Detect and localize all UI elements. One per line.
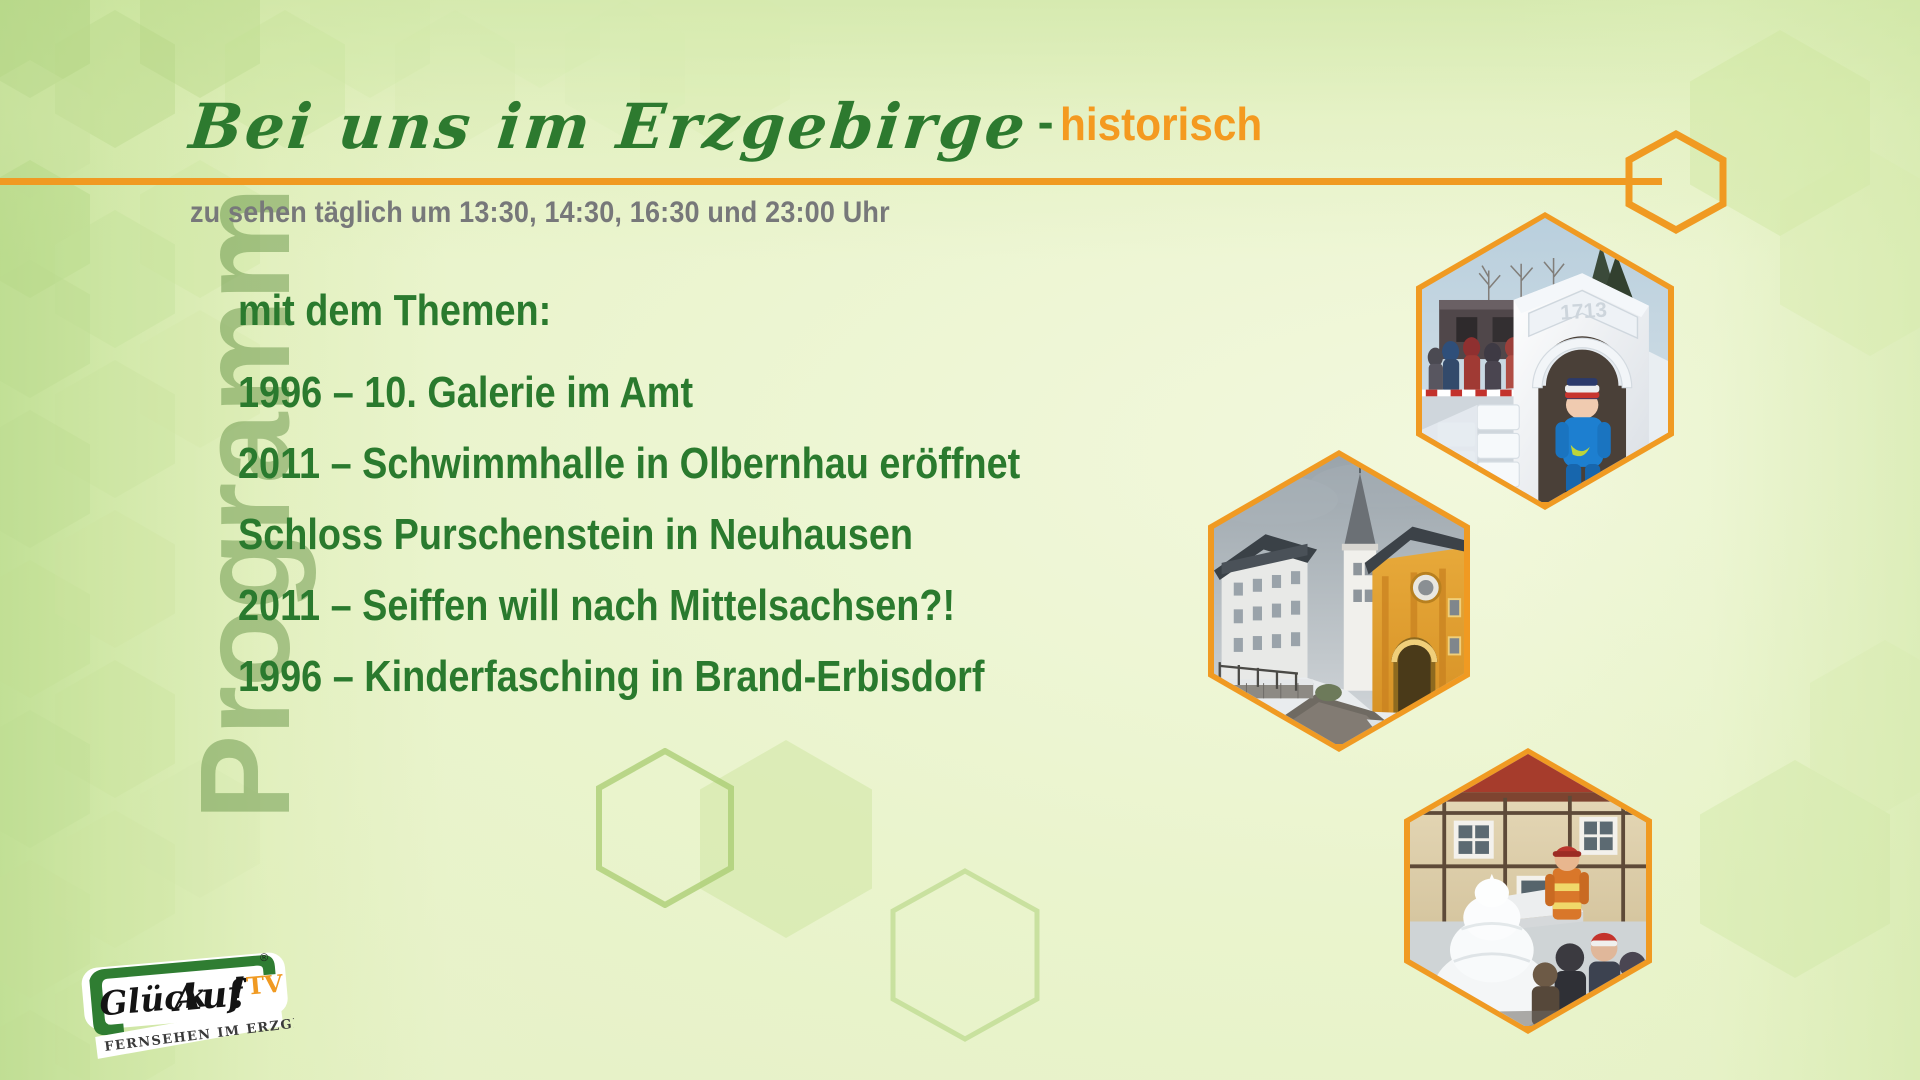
page-title-accent: historisch <box>1060 101 1262 147</box>
page-title: Bei uns im Erzgebirge-historisch <box>190 96 1279 158</box>
schedule-text: zu sehen täglich um 13:30, 14:30, 16:30 … <box>190 196 890 230</box>
topic-list-lead: mit dem Themen: <box>238 286 1081 336</box>
logo-registered-mark: ® <box>260 952 269 964</box>
channel-logo: Glück Auf ! TV ® FERNSEHEN IM ERZGEBIRGE <box>78 952 294 1060</box>
page-title-dash: - <box>1038 99 1054 147</box>
logo-tv: TV <box>245 968 284 1000</box>
topic-item: 1996 – 10. Galerie im Amt <box>238 368 1081 418</box>
topic-item: Schloss Purschenstein in Neuhausen <box>238 510 1081 560</box>
glueckauf-tv-logo: Glück Auf ! TV ® FERNSEHEN IM ERZGEBIRGE <box>78 952 294 1060</box>
header-divider-line <box>0 178 1662 185</box>
svg-text:1713: 1713 <box>1560 299 1608 325</box>
topic-item: 2011 – Schwimmhalle in Olbernhau eröffne… <box>238 439 1081 489</box>
hexagon-outline <box>596 748 734 908</box>
topic-item: 1996 – Kinderfasching in Brand-Erbisdorf <box>238 652 1081 702</box>
page-title-script: Bei uns im Erzgebirge <box>187 96 1031 158</box>
broadcast-slate: Programm Bei uns im Erzgebirge-historisc… <box>0 0 1920 1080</box>
hexagon-outline <box>890 868 1040 1042</box>
topic-list: mit dem Themen: 1996 – 10. Galerie im Am… <box>238 286 1218 723</box>
topic-item: 2011 – Seiffen will nach Mittelsachsen?! <box>238 581 1081 631</box>
header-hexagon-marker <box>1624 130 1728 234</box>
